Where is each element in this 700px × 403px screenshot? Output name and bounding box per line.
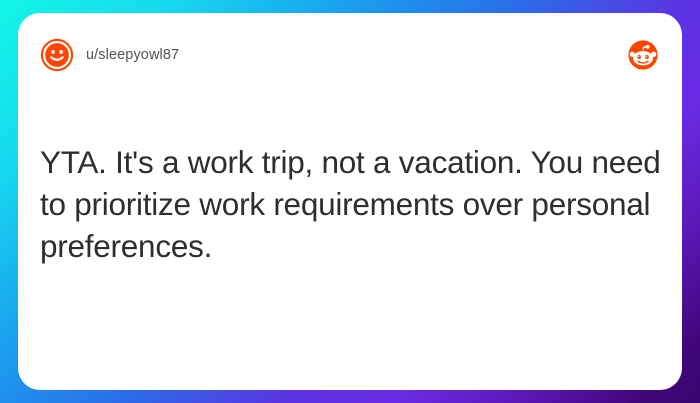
username-label: u/sleepyowl87 — [86, 48, 179, 63]
post-body-text: YTA. It's a work trip, not a vacation. Y… — [40, 141, 662, 267]
card-header: u/sleepyowl87 — [18, 13, 682, 97]
screenshot-stage: u/sleepyowl87 — [0, 0, 700, 403]
reddit-snoo-logo-icon[interactable] — [628, 40, 658, 70]
smiley-face-avatar-icon[interactable] — [40, 38, 74, 72]
reddit-comment-card: u/sleepyowl87 — [18, 13, 682, 390]
